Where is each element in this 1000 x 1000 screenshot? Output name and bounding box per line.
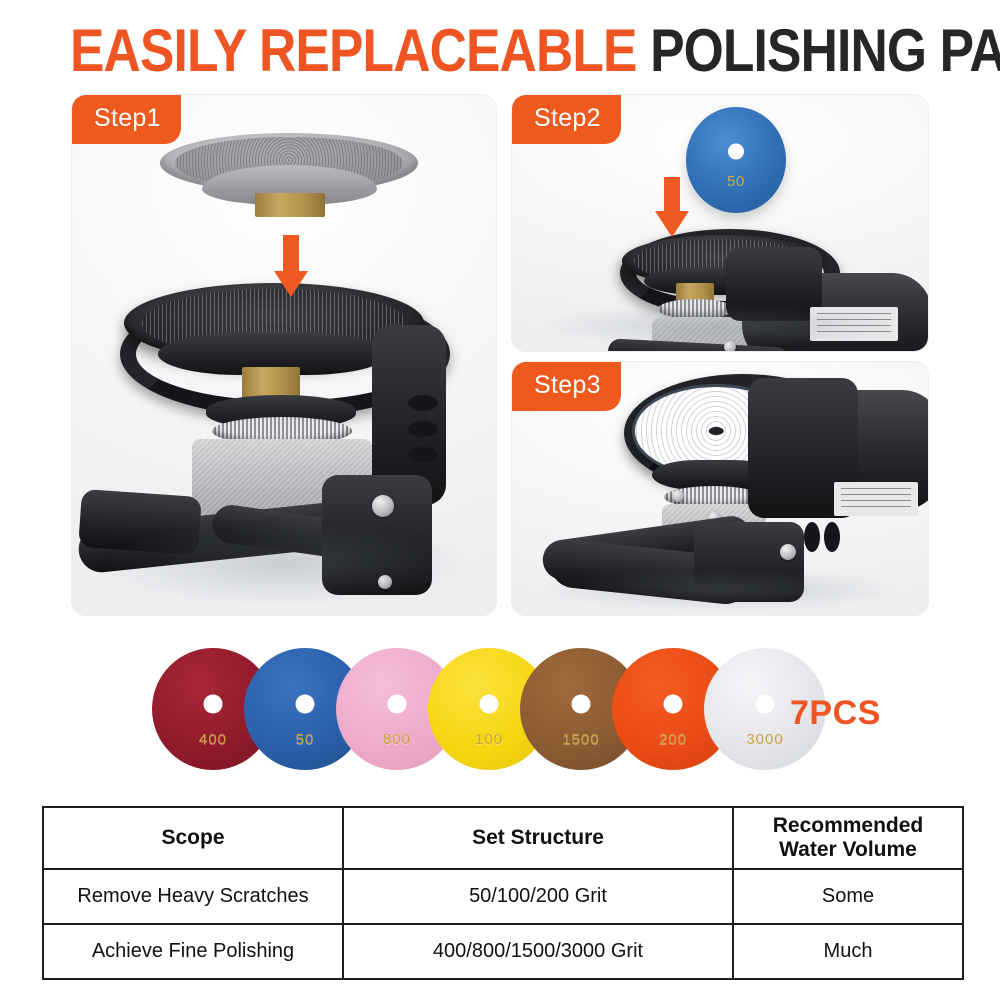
blue-pad-grit-label: 50: [727, 173, 745, 190]
pad-grit-label: 100: [475, 731, 503, 748]
blue-grit-pad: 50: [686, 107, 786, 213]
pad-center-hole: [296, 695, 315, 714]
cell-water-volume: Much: [733, 924, 963, 979]
pad-center-hole: [480, 695, 499, 714]
step1-badge: Step1: [72, 95, 181, 144]
step2-badge: Step2: [512, 95, 621, 144]
pad-center-hole: [204, 695, 223, 714]
pad-grit-label: 50: [296, 731, 315, 748]
pad-center-hole: [756, 695, 775, 714]
handle-screw: [780, 544, 796, 560]
down-arrow-icon: [652, 177, 692, 237]
page-title-highlight: EASILY REPLACEABLE: [70, 17, 637, 84]
pad-grit-label: 3000: [746, 731, 783, 748]
pad-grit-label: 400: [199, 731, 227, 748]
grip-ridge: [824, 522, 840, 552]
grip-ridge: [408, 447, 438, 463]
floor-shadow: [537, 305, 903, 346]
table-header-row: Scope Set Structure Recommended Water Vo…: [43, 807, 963, 869]
grip-ridge: [804, 522, 820, 552]
water-volume-line1: Recommended: [773, 814, 924, 837]
cell-scope: Achieve Fine Polishing: [43, 924, 343, 979]
handle-screw: [372, 495, 394, 517]
pad-center-hole: [728, 143, 744, 160]
water-volume-line2: Water Volume: [779, 838, 917, 861]
pad-center-hole: [572, 695, 591, 714]
table-row: Remove Heavy Scratches 50/100/200 Grit S…: [43, 869, 963, 924]
cell-set-structure: 400/800/1500/3000 Grit: [343, 924, 733, 979]
cell-scope: Remove Heavy Scratches: [43, 869, 343, 924]
pad-grit-label: 800: [383, 731, 411, 748]
housing-screw: [672, 490, 684, 502]
pieces-count-label: 7PCS: [790, 694, 881, 733]
step3-panel: Step3: [512, 362, 928, 615]
page-title: EASILY REPLACEABLE POLISHING PADS: [70, 18, 930, 84]
floor-shadow: [537, 569, 903, 609]
pad-center-hole: [664, 695, 683, 714]
floor-shadow: [97, 521, 470, 604]
step2-panel: 50 Step2: [512, 95, 928, 351]
grip-ridge: [408, 421, 438, 437]
page-title-rest: POLISHING PADS: [650, 17, 1000, 84]
table-row: Achieve Fine Polishing 400/800/1500/3000…: [43, 924, 963, 979]
pad-center-hole: [388, 695, 407, 714]
table-header-water-volume: Recommended Water Volume: [733, 807, 963, 869]
cell-water-volume: Some: [733, 869, 963, 924]
pad-center-hole: [709, 427, 724, 435]
step3-badge: Step3: [512, 362, 621, 411]
grip-ridge: [408, 395, 438, 411]
table-header-set-structure: Set Structure: [343, 807, 733, 869]
step1-panel: Step1: [72, 95, 496, 615]
pad-grit-label: 200: [659, 731, 687, 748]
backing-pad-brass-stem: [255, 193, 325, 217]
cell-set-structure: 50/100/200 Grit: [343, 869, 733, 924]
down-arrow-icon: [271, 235, 311, 297]
table-header-scope: Scope: [43, 807, 343, 869]
spec-table: Scope Set Structure Recommended Water Vo…: [42, 806, 964, 980]
spec-label-plate: [834, 482, 918, 516]
pad-grit-label: 1500: [562, 731, 599, 748]
